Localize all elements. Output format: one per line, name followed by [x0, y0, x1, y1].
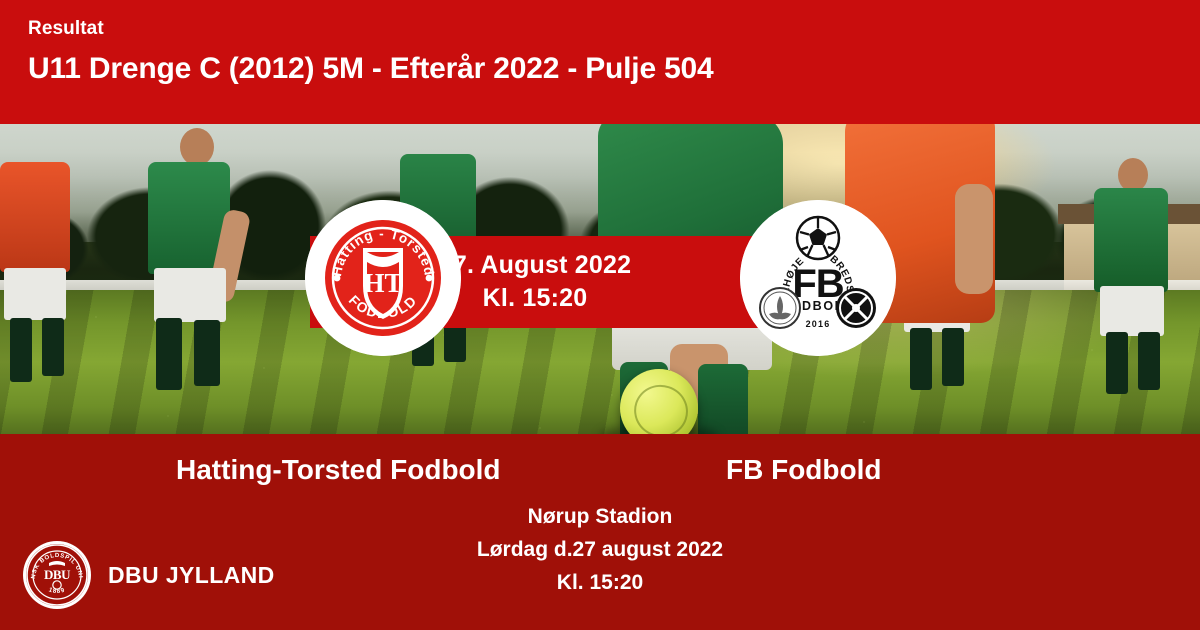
match-result-poster: Resultat U11 Drenge C (2012) 5M - Efterå… — [0, 0, 1200, 630]
venue-stadium: Nørup Stadion — [0, 500, 1200, 533]
svg-text:2016: 2016 — [806, 319, 831, 329]
club-crest-icon: FIREHØJE BREDSTEN FB FODBOLD 2016 — [740, 200, 896, 356]
photo-player — [1078, 158, 1188, 398]
dbu-jylland-label: DBU JYLLAND — [108, 562, 275, 589]
away-team-crest: FIREHØJE BREDSTEN FB FODBOLD 2016 — [740, 200, 896, 356]
photo-player — [0, 142, 90, 382]
dbu-jylland-branding: DANSK BOLDSPIL UNION 1889 DBU DBU JYLLAN… — [22, 538, 322, 612]
bredsten-club-badge — [836, 288, 876, 328]
away-team-name: FB Fodbold — [726, 448, 882, 492]
svg-text:DBU: DBU — [44, 567, 71, 582]
home-team-name: Hatting-Torsted Fodbold — [176, 448, 501, 492]
poster-header: Resultat U11 Drenge C (2012) 5M - Efterå… — [0, 0, 1200, 124]
svg-text:HT: HT — [363, 268, 402, 298]
match-time: Kl. 15:20 — [483, 283, 588, 314]
photo-player-arm — [955, 184, 993, 294]
football-icon — [797, 217, 839, 259]
match-photo: 27. August 2022 Kl. 15:20 Hatting - Tors… — [0, 124, 1200, 434]
club-crest-icon: Hatting - Torsted FODBOLD HT — [305, 200, 461, 356]
match-date: 27. August 2022 — [439, 250, 631, 281]
header-kicker: Resultat — [28, 18, 1200, 40]
home-team-crest: Hatting - Torsted FODBOLD HT — [305, 200, 461, 356]
photo-player — [120, 128, 250, 388]
dbu-logo-icon: DANSK BOLDSPIL UNION 1889 DBU — [22, 540, 92, 610]
team-names-row: Hatting-Torsted Fodbold FB Fodbold — [0, 448, 1200, 492]
firehoeje-club-badge — [760, 288, 800, 328]
page-title: U11 Drenge C (2012) 5M - Efterår 2022 - … — [28, 49, 1200, 89]
